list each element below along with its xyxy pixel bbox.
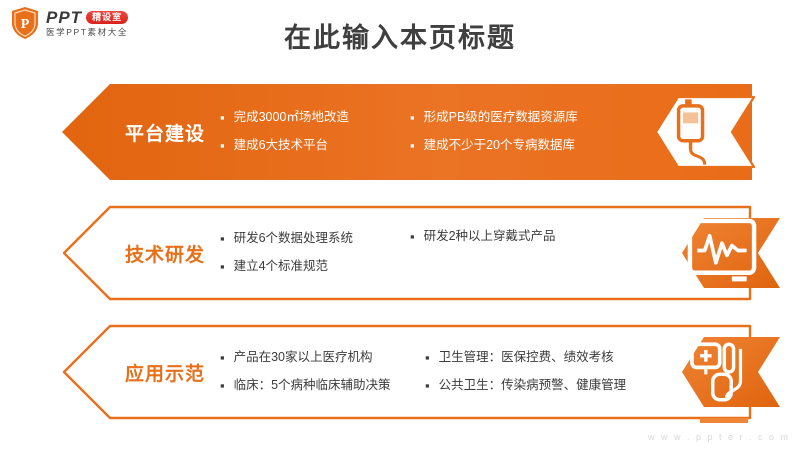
list-item-text: 公共卫生：传染病预警、健康管理: [439, 378, 627, 393]
content-row-platform: 平台建设 ▪ 完成3000㎡场地改造 ▪ 建成6大技术平台 ▪ 形成PB级的医疗…: [62, 84, 752, 180]
list-item: ▪ 产品在30家以上医疗机构: [220, 350, 425, 366]
row-bullets-right: ▪ 形成PB级的医疗数据资源库 ▪ 建成不少于20个专病数据库: [410, 84, 650, 180]
row-heading: 应用示范: [110, 324, 220, 420]
bullet-marker: ▪: [220, 110, 225, 126]
footer-accent-bar: [700, 418, 748, 423]
row-bullets-left: ▪ 研发6个数据处理系统 ▪ 建立4个标准规范: [220, 205, 410, 301]
list-item: ▪ 建立4个标准规范: [220, 259, 410, 275]
list-item: ▪ 临床：5个病种临床辅助决策: [220, 378, 425, 394]
bullet-marker: ▪: [410, 229, 415, 245]
row-bullets-right: ▪ 卫生管理：医保控费、绩效考核 ▪ 公共卫生：传染病预警、健康管理: [425, 324, 675, 420]
list-item: ▪ 研发6个数据处理系统: [220, 231, 410, 247]
list-item: ▪ 研发2种以上穿戴式产品: [410, 229, 650, 245]
list-item-text: 建成6大技术平台: [234, 138, 328, 153]
footer-watermark: w w w . p p t e r . c o m: [648, 432, 790, 442]
list-item-text: 临床：5个病种临床辅助决策: [234, 378, 391, 393]
bullet-marker: ▪: [220, 138, 225, 154]
list-item-text: 形成PB级的医疗数据资源库: [424, 110, 578, 125]
bullet-marker: ▪: [410, 110, 415, 126]
list-item: ▪ 完成3000㎡场地改造: [220, 110, 410, 126]
list-item-text: 研发2种以上穿戴式产品: [424, 229, 556, 244]
row-bullets-left: ▪ 产品在30家以上医疗机构 ▪ 临床：5个病种临床辅助决策: [220, 324, 425, 420]
page-title: 在此输入本页标题: [0, 16, 800, 55]
list-item-text: 建立4个标准规范: [234, 259, 328, 274]
list-item-text: 产品在30家以上医疗机构: [234, 350, 373, 365]
list-item-text: 完成3000㎡场地改造: [234, 110, 349, 125]
bullet-marker: ▪: [425, 378, 430, 394]
row-icon-badge: [636, 95, 756, 169]
list-item-text: 建成不少于20个专病数据库: [424, 138, 575, 153]
bullet-marker: ▪: [220, 259, 225, 275]
row-heading: 技术研发: [110, 205, 220, 301]
row-bullets-right: ▪ 研发2种以上穿戴式产品: [410, 205, 650, 301]
list-item: ▪ 建成不少于20个专病数据库: [410, 138, 650, 154]
content-row-rnd: 技术研发 ▪ 研发6个数据处理系统 ▪ 建立4个标准规范 ▪ 研发2种以上穿戴式…: [62, 205, 752, 301]
row-heading: 平台建设: [110, 84, 220, 180]
row-icon-badge: [662, 216, 782, 290]
row-icon-badge: [662, 335, 782, 409]
list-item: ▪ 公共卫生：传染病预警、健康管理: [425, 378, 675, 394]
bullet-marker: ▪: [425, 350, 430, 366]
bullet-marker: ▪: [220, 350, 225, 366]
row-bullets-left: ▪ 完成3000㎡场地改造 ▪ 建成6大技术平台: [220, 84, 410, 180]
list-item-text: 研发6个数据处理系统: [234, 231, 353, 246]
bullet-marker: ▪: [410, 138, 415, 154]
bullet-marker: ▪: [220, 378, 225, 394]
bullet-marker: ▪: [220, 231, 225, 247]
list-item-text: 卫生管理：医保控费、绩效考核: [439, 350, 614, 365]
content-row-application: 应用示范 ▪ 产品在30家以上医疗机构 ▪ 临床：5个病种临床辅助决策 ▪ 卫生…: [62, 324, 752, 420]
list-item: ▪ 卫生管理：医保控费、绩效考核: [425, 350, 675, 366]
list-item: ▪ 建成6大技术平台: [220, 138, 410, 154]
list-item: ▪ 形成PB级的医疗数据资源库: [410, 110, 650, 126]
